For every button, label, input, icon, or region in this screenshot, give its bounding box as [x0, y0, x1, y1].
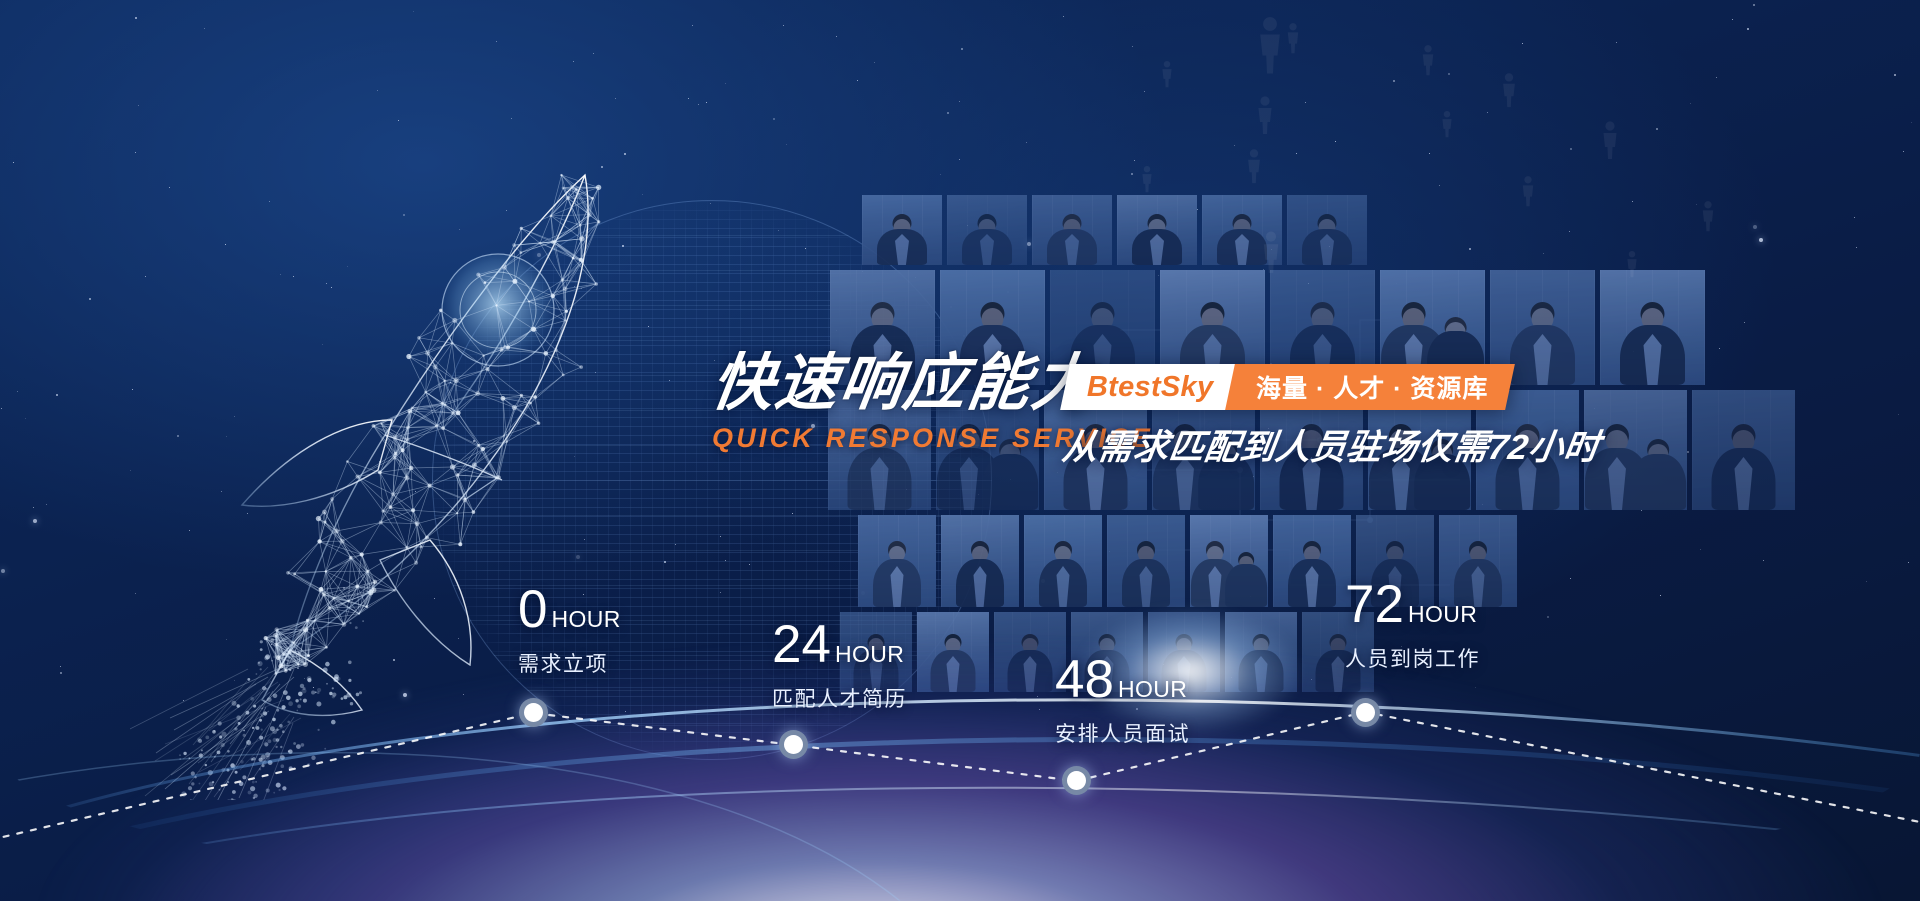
- timeline-step: 48 HOUR 安排人员面试: [1055, 653, 1190, 748]
- process-timeline: 0 HOUR 需求立项 24 HOUR 匹配人才简历 48 HOUR 安排人员面…: [0, 0, 1920, 901]
- timeline-desc: 人员到岗工作: [1345, 643, 1480, 673]
- timeline-number: 0: [518, 583, 547, 636]
- timeline-hour: 24 HOUR: [772, 618, 907, 671]
- timeline-hour: 0 HOUR: [518, 583, 621, 636]
- timeline-unit: HOUR: [551, 606, 620, 633]
- timeline-dot[interactable]: [779, 730, 808, 759]
- timeline-number: 72: [1345, 578, 1404, 631]
- timeline-unit: HOUR: [1118, 676, 1187, 703]
- timeline-desc: 匹配人才简历: [772, 683, 907, 713]
- timeline-desc: 安排人员面试: [1055, 718, 1190, 748]
- timeline-unit: HOUR: [1408, 601, 1477, 628]
- timeline-number: 24: [772, 618, 831, 671]
- timeline-hour: 72 HOUR: [1345, 578, 1480, 631]
- timeline-dot[interactable]: [1351, 698, 1380, 727]
- timeline-number: 48: [1055, 653, 1114, 706]
- timeline-hour: 48 HOUR: [1055, 653, 1190, 706]
- timeline-desc: 需求立项: [518, 648, 621, 678]
- timeline-step: 72 HOUR 人员到岗工作: [1345, 578, 1480, 673]
- timeline-step: 24 HOUR 匹配人才简历: [772, 618, 907, 713]
- hero-banner: 快速响应能力 QUICK RESPONSE SERVICE BtestSky 海…: [0, 0, 1920, 901]
- timeline-dot[interactable]: [519, 698, 548, 727]
- timeline-step: 0 HOUR 需求立项: [518, 583, 621, 678]
- timeline-dashed-path: [0, 0, 1920, 901]
- timeline-dot[interactable]: [1062, 766, 1091, 795]
- timeline-unit: HOUR: [835, 641, 904, 668]
